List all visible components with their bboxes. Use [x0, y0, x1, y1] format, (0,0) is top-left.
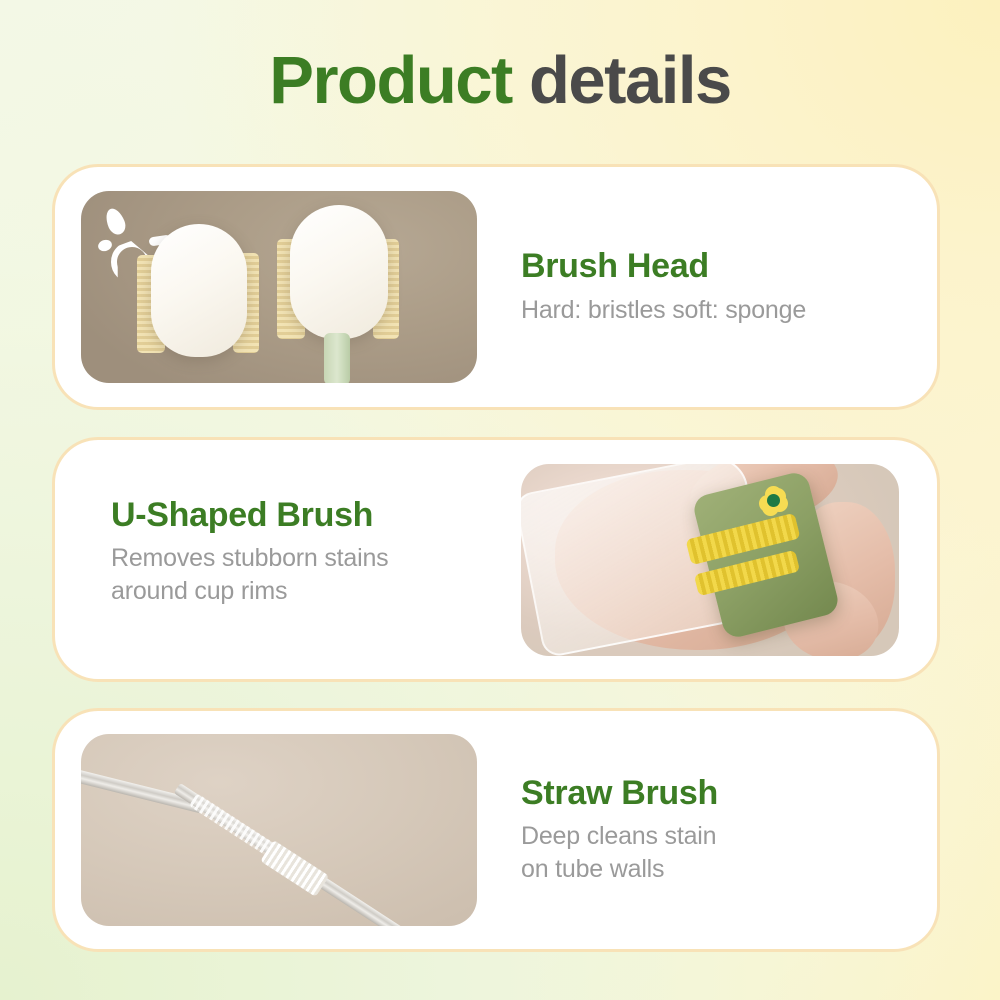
straw-brush-subtext-line-2: on tube walls [521, 853, 937, 886]
flower-core [767, 494, 780, 507]
brush-handle [324, 333, 350, 383]
brush-head-subtext: Hard: bristles soft: sponge [521, 294, 937, 327]
u-shaped-brush-photo [521, 464, 899, 656]
u-shaped-brush-text-block: U-Shaped Brush Removes stubborn stains a… [111, 496, 511, 608]
u-shaped-brush-subtext-line-1: Removes stubborn stains [111, 542, 511, 575]
straw-brush-text-block: Straw Brush Deep cleans stain on tube wa… [477, 774, 937, 886]
brush-sponge-left [151, 224, 247, 357]
straw-brush-subtext-line-1: Deep cleans stain [521, 820, 937, 853]
detail-card-straw-brush: Straw Brush Deep cleans stain on tube wa… [52, 708, 940, 952]
page-title-green-word: Product [269, 43, 512, 118]
detail-card-u-shaped-brush: U-Shaped Brush Removes stubborn stains a… [52, 437, 940, 682]
brush-sponge-right [290, 205, 388, 339]
brush-head-photo [81, 191, 477, 383]
detail-card-brush-head: Brush Head Hard: bristles soft: sponge [52, 164, 940, 410]
u-shaped-brush-subtext-line-2: around cup rims [111, 575, 511, 608]
page-title-dark-word: details [512, 43, 731, 118]
straw-brush-photo [81, 734, 477, 926]
straw-brush-headline: Straw Brush [521, 774, 937, 813]
page-title: Product details [0, 47, 1000, 114]
brush-head-text-block: Brush Head Hard: bristles soft: sponge [477, 247, 937, 326]
photo-background [81, 734, 477, 926]
brush-head-headline: Brush Head [521, 247, 937, 286]
u-shaped-brush-headline: U-Shaped Brush [111, 496, 511, 535]
flower-knob-icon [759, 486, 788, 515]
